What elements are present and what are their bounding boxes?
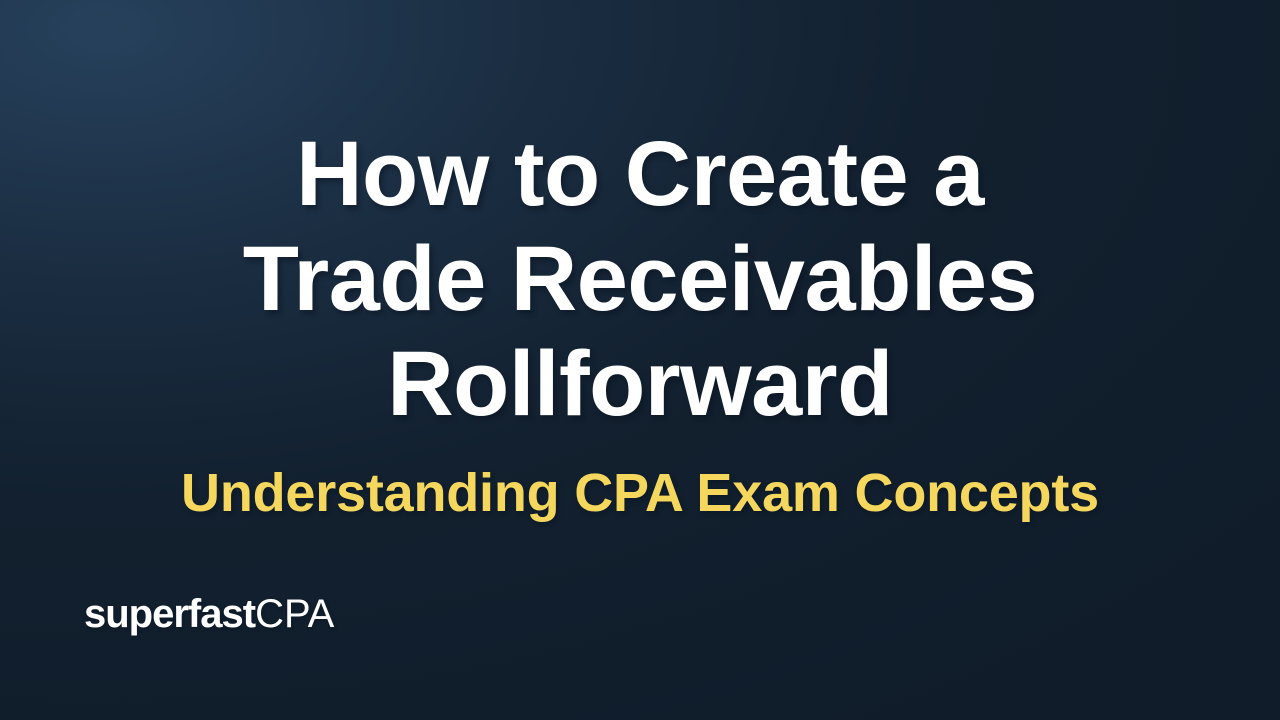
title-slide: How to Create a Trade Receivables Rollfo… (0, 0, 1280, 720)
logo-text-bold: superfast (84, 592, 255, 636)
subtitle: Understanding CPA Exam Concepts (0, 462, 1280, 524)
title-line-1: How to Create a (0, 122, 1280, 227)
logo-text-light: CPA (255, 592, 334, 636)
brand-logo: superfastCPA (84, 592, 334, 636)
page-title: How to Create a Trade Receivables Rollfo… (0, 122, 1280, 437)
slide-content: How to Create a Trade Receivables Rollfo… (0, 0, 1280, 720)
title-line-3: Rollforward (0, 332, 1280, 437)
title-line-2: Trade Receivables (0, 227, 1280, 332)
